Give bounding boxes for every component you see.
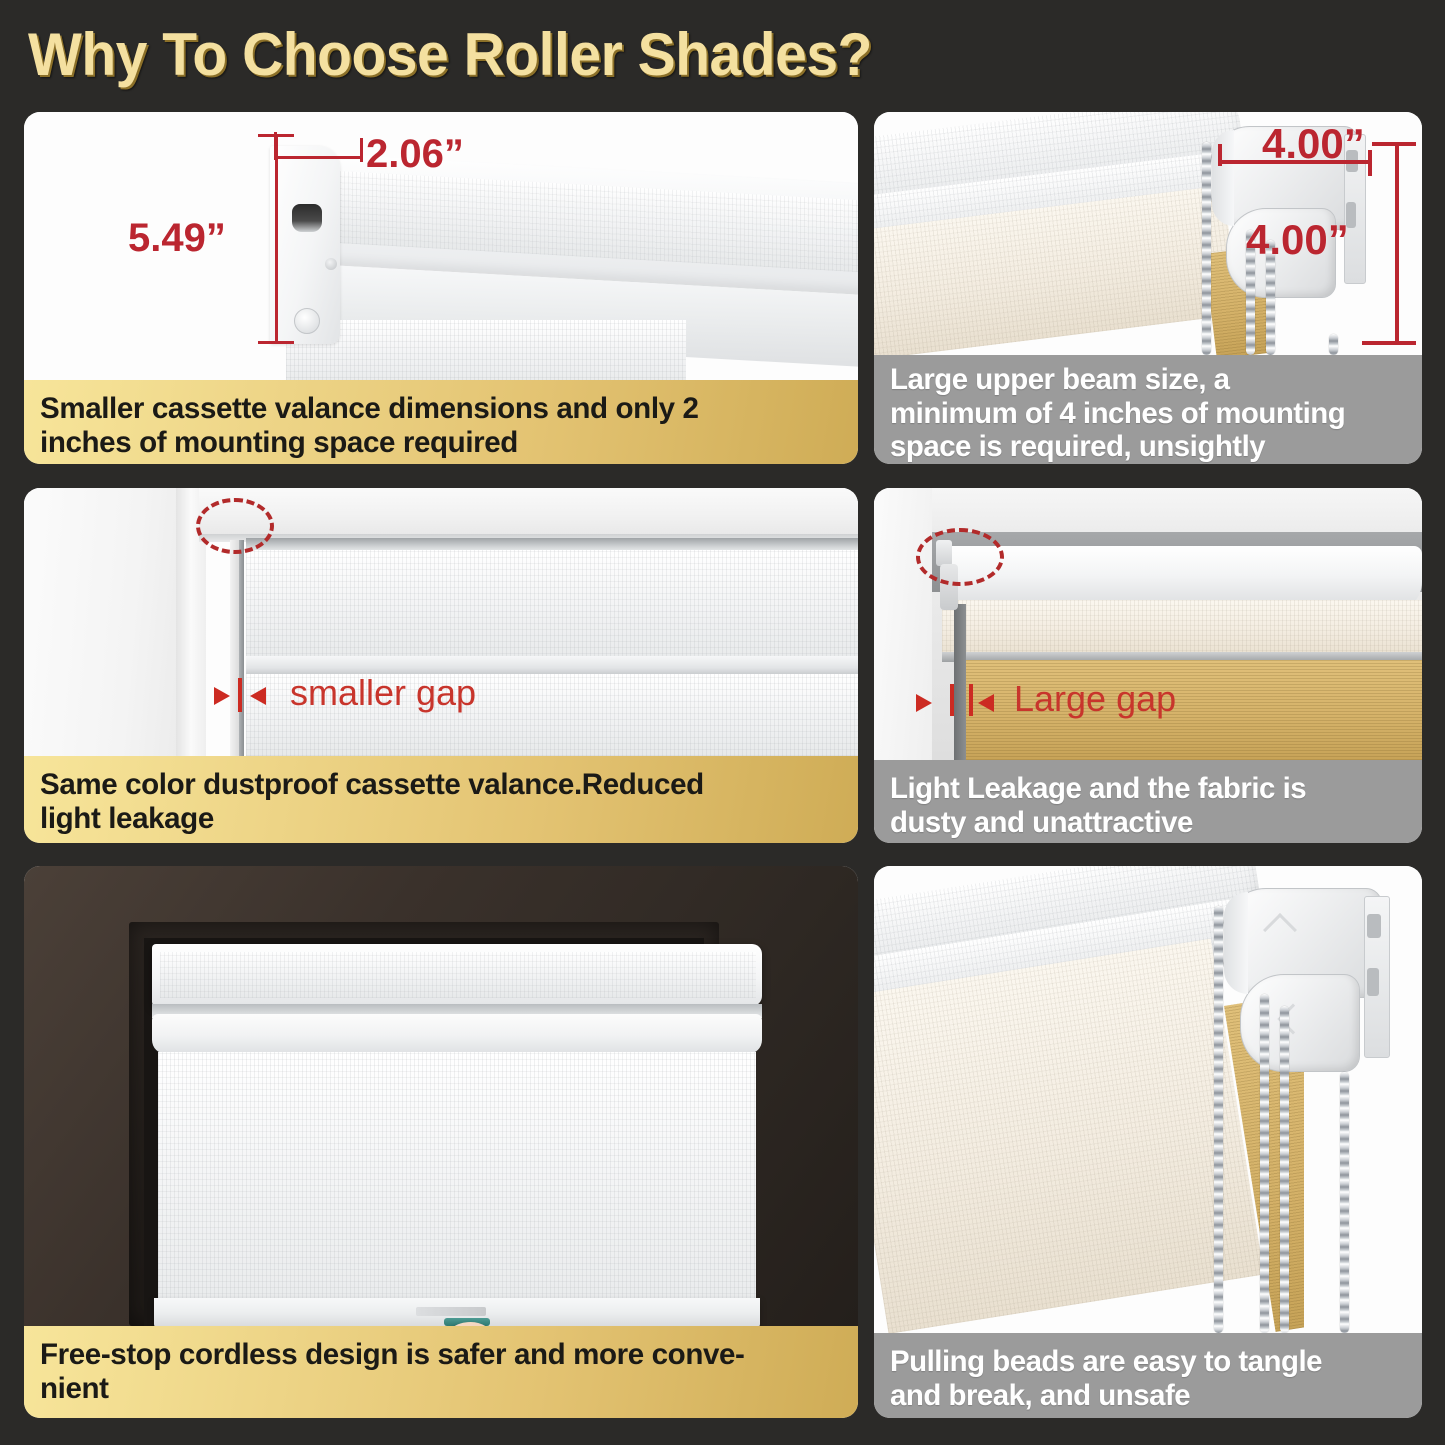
height-dimension-label: 5.49” [128,216,226,261]
panel-caption: Large upper beam size, a minimum of 4 in… [874,355,1422,464]
bead-chain [1280,1006,1289,1333]
panel-cassette-valance-dimensions: 2.06” 5.49” Smaller cassette valance dim… [24,112,858,464]
bead-chain [1329,334,1338,355]
panel-free-stop-cordless: Free-stop cordless design is safer and m… [24,866,858,1418]
gap-callout-label: Large gap [1014,678,1176,720]
page-title: Why To Choose Roller Shades? [28,20,872,89]
panel-caption: Pulling beads are easy to tangle and bre… [874,1333,1422,1418]
caption-line-1: Free-stop cordless design is safer and m… [40,1338,830,1372]
panel-large-upper-beam: 4.00” 4.00” Large upper beam size, a min… [874,112,1422,464]
caption-line-2: and break, and unsafe [890,1379,1396,1413]
caption-line-1: Light Leakage and the fabric is [890,772,1396,806]
caption-line-3: space is required, unsightly [890,430,1396,464]
caption-line-2: minimum of 4 inches of mounting [890,397,1396,431]
height-dimension-line [1395,142,1399,344]
caption-line-1: Same color dustproof cassette valance.Re… [40,768,830,802]
bead-chain [1340,1072,1349,1333]
caption-line-1: Large upper beam size, a [890,363,1396,397]
caption-line-1: Pulling beads are easy to tangle [890,1345,1396,1379]
caption-line-1: Smaller cassette valance dimensions and … [40,392,830,426]
gap-arrow-right [978,694,994,712]
width-dimension-label: 2.06” [366,132,464,177]
caption-line-2: inches of mounting space required [40,426,830,460]
panel-caption: Free-stop cordless design is safer and m… [24,1326,858,1418]
height-dimension-line [275,134,278,344]
panel-caption: Same color dustproof cassette valance.Re… [24,756,858,843]
bead-chain [1202,142,1211,355]
caption-line-2: dusty and unattractive [890,806,1396,840]
width-dimension-line [276,156,362,159]
gap-callout-label: smaller gap [290,672,476,714]
height-dimension-label: 4.00” [1246,216,1349,264]
bead-chain [1214,906,1223,1333]
panel-caption: Smaller cassette valance dimensions and … [24,380,858,464]
bead-chain [1260,994,1269,1333]
width-dimension-label: 4.00” [1262,120,1365,168]
caption-line-2: nient [40,1372,830,1406]
infographic-page: Why To Choose Roller Shades? 2.06” [0,0,1445,1445]
panel-dustproof-cassette-valance: smaller gap Same color dustproof cassett… [24,488,858,843]
panel-light-leakage: Large gap Light Leakage and the fabric i… [874,488,1422,843]
gap-highlight-ellipse [196,498,274,554]
gap-arrow-left [916,694,932,712]
gap-arrow-right [250,687,266,705]
gap-arrow-left [214,687,230,705]
gap-highlight-ellipse [916,528,1004,586]
caption-line-2: light leakage [40,802,830,836]
panel-pulling-beads: Pulling beads are easy to tangle and bre… [874,866,1422,1418]
panel-caption: Light Leakage and the fabric is dusty an… [874,760,1422,843]
